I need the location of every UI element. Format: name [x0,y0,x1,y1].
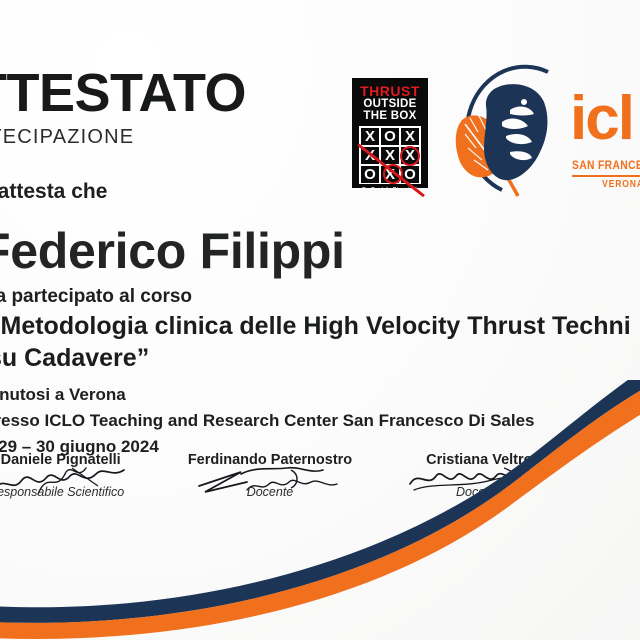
certificate-heading: TTESTATO RTECIPAZIONE [0,66,404,149]
saint-francis-face-icon [452,58,572,198]
thrust-outside-the-box-logo: THRUST OUTSIDE THE BOX X O X X X X O X O… [352,78,428,188]
tic-tac-toe-grid-icon: X O X X X X O X O [359,126,421,184]
iclo-logo: icl SAN FRANCESCO VERONA [452,58,640,198]
iclo-divider [572,175,640,177]
page-title: TTESTATO [0,66,404,120]
red-circle-icon [383,164,403,184]
signatory-role: Docente [389,485,570,499]
red-circle-icon [400,146,420,166]
venue-place-line: presso ICLO Teaching and Research Center… [0,408,535,434]
signature-block: Cristiana Veltro Docente [389,452,570,499]
signature-block: Daniele Pignatelli esponsabile Scientifi… [0,452,151,499]
signature-row: Daniele Pignatelli esponsabile Scientifi… [0,452,570,499]
signatory-role: esponsabile Scientifico [0,485,151,499]
signatory-name: Daniele Pignatelli [0,452,151,468]
page-subtitle: RTECIPAZIONE [0,126,404,149]
participation-line: ha partecipato al corso [0,286,192,308]
ttt-cell: O [360,165,380,184]
signatory-name: Ferdinando Paternostro [179,452,360,468]
signatory-role: Docente [179,485,360,499]
iclo-subtitle: SAN FRANCESCO [572,158,640,172]
venue-city-line: tenutosi a Verona [0,382,535,408]
ttt-cell: O [380,127,400,146]
attestation-line: i attesta che [0,180,107,204]
signature-block: Ferdinando Paternostro Docente [179,452,360,499]
thrust-wordmark: THRUST [357,84,423,98]
ttt-cell: X [400,127,420,146]
iclo-location: VERONA [602,179,640,190]
certificate-page: TTESTATO RTECIPAZIONE THRUST OUTSIDE THE… [0,0,640,640]
course-title: “Metodologia clinica delle High Velocity… [0,310,640,374]
course-title-line-2: su Cadavere” [0,342,640,374]
recipient-name: Federico Filippi [0,222,345,280]
thrust-thebox-label: THE BOX [357,110,423,122]
venue-details: tenutosi a Verona presso ICLO Teaching a… [0,382,535,459]
thrust-outside-label: OUTSIDE [357,98,423,110]
ttt-cell: X [360,127,380,146]
course-title-line-1: “Metodologia clinica delle High Velocity… [0,312,631,340]
iclo-wordmark: icl [570,88,633,150]
signatory-name: Cristiana Veltro [389,452,570,468]
